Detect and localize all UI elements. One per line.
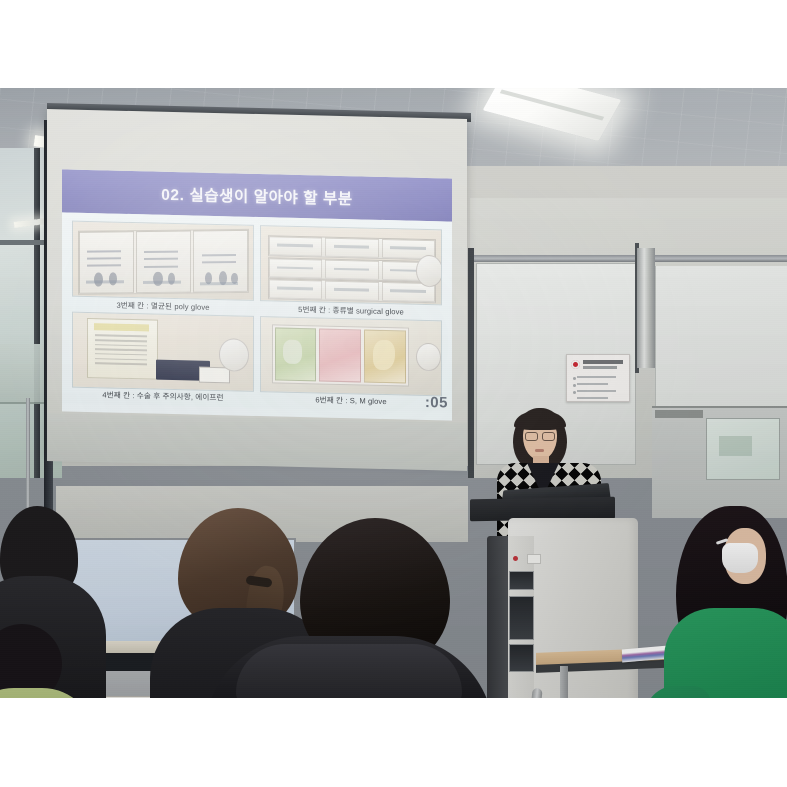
wall-poster [566, 354, 630, 402]
eyeglasses-icon [525, 432, 555, 440]
metal-pillar [637, 248, 655, 368]
hood-collar [236, 644, 462, 698]
slide-timer: :05 [425, 394, 448, 412]
drawer-surgical-glove-photo [260, 225, 442, 305]
lectern-label-tag [527, 554, 541, 564]
projection-screen: 02. 실습생이 알아야 할 부분 [47, 109, 467, 464]
poster-bullet-icon [573, 391, 576, 394]
slide-panel: 6번째 칸 : S, M glove [260, 316, 442, 409]
power-indicator-icon [513, 556, 518, 561]
wall-rail [470, 255, 787, 262]
lectern-disc-slot[interactable] [509, 571, 534, 590]
poster-heading [583, 360, 623, 364]
whiteboard-right-second [655, 266, 787, 406]
presenter-mouth [535, 449, 544, 452]
slide: 02. 실습생이 알아야 할 부분 [62, 169, 452, 420]
lectern-lower-bay[interactable] [509, 644, 534, 672]
poster-logo-icon [571, 360, 580, 369]
window-blind [0, 344, 46, 404]
slide-title: 02. 실습생이 알아야 할 부분 [161, 182, 353, 209]
support-pole [26, 398, 30, 508]
face-mask-icon [722, 543, 758, 573]
cabinet-glass-pane [706, 418, 780, 480]
audience-member-right-green [664, 608, 787, 698]
screenshot-canvas: 02. 실습생이 알아야 할 부분 [0, 0, 787, 787]
screen-lower-blank [47, 413, 467, 471]
classroom-photo: 02. 실습생이 알아야 할 부분 [0, 88, 787, 698]
poster-bullet-icon [573, 377, 576, 380]
poster-body-lines [577, 376, 623, 404]
slide-panel: 3번째 칸 : 멸균된 poly glove [72, 221, 254, 314]
window-mullion-vertical [34, 148, 40, 478]
audience-member-right-arm [645, 686, 711, 698]
drawer-post-op-notice-apron-photo [72, 311, 254, 391]
slide-panel-grid: 3번째 칸 : 멸균된 poly glove [72, 221, 442, 409]
desk-right-leg [560, 666, 568, 698]
poster-bullet-icon [573, 384, 576, 387]
slide-panel: 5번째 칸 : 종류별 surgical glove [260, 225, 442, 318]
slide-panel: 4번째 칸 : 수술 후 주의사항, 에이프런 [72, 311, 254, 404]
wall-frame-left-edge [468, 248, 474, 478]
slide-body: 3번째 칸 : 멸균된 poly glove [62, 212, 452, 412]
lectern-equipment-bay[interactable] [509, 596, 534, 640]
presenter-bangs [514, 410, 566, 430]
drawer-sterile-poly-glove-photo [72, 221, 254, 301]
lectern-side-panel [487, 536, 509, 698]
cabinet-handle [655, 410, 703, 418]
poster-subheading [583, 366, 617, 369]
drawer-s-m-glove-photo [260, 316, 442, 396]
